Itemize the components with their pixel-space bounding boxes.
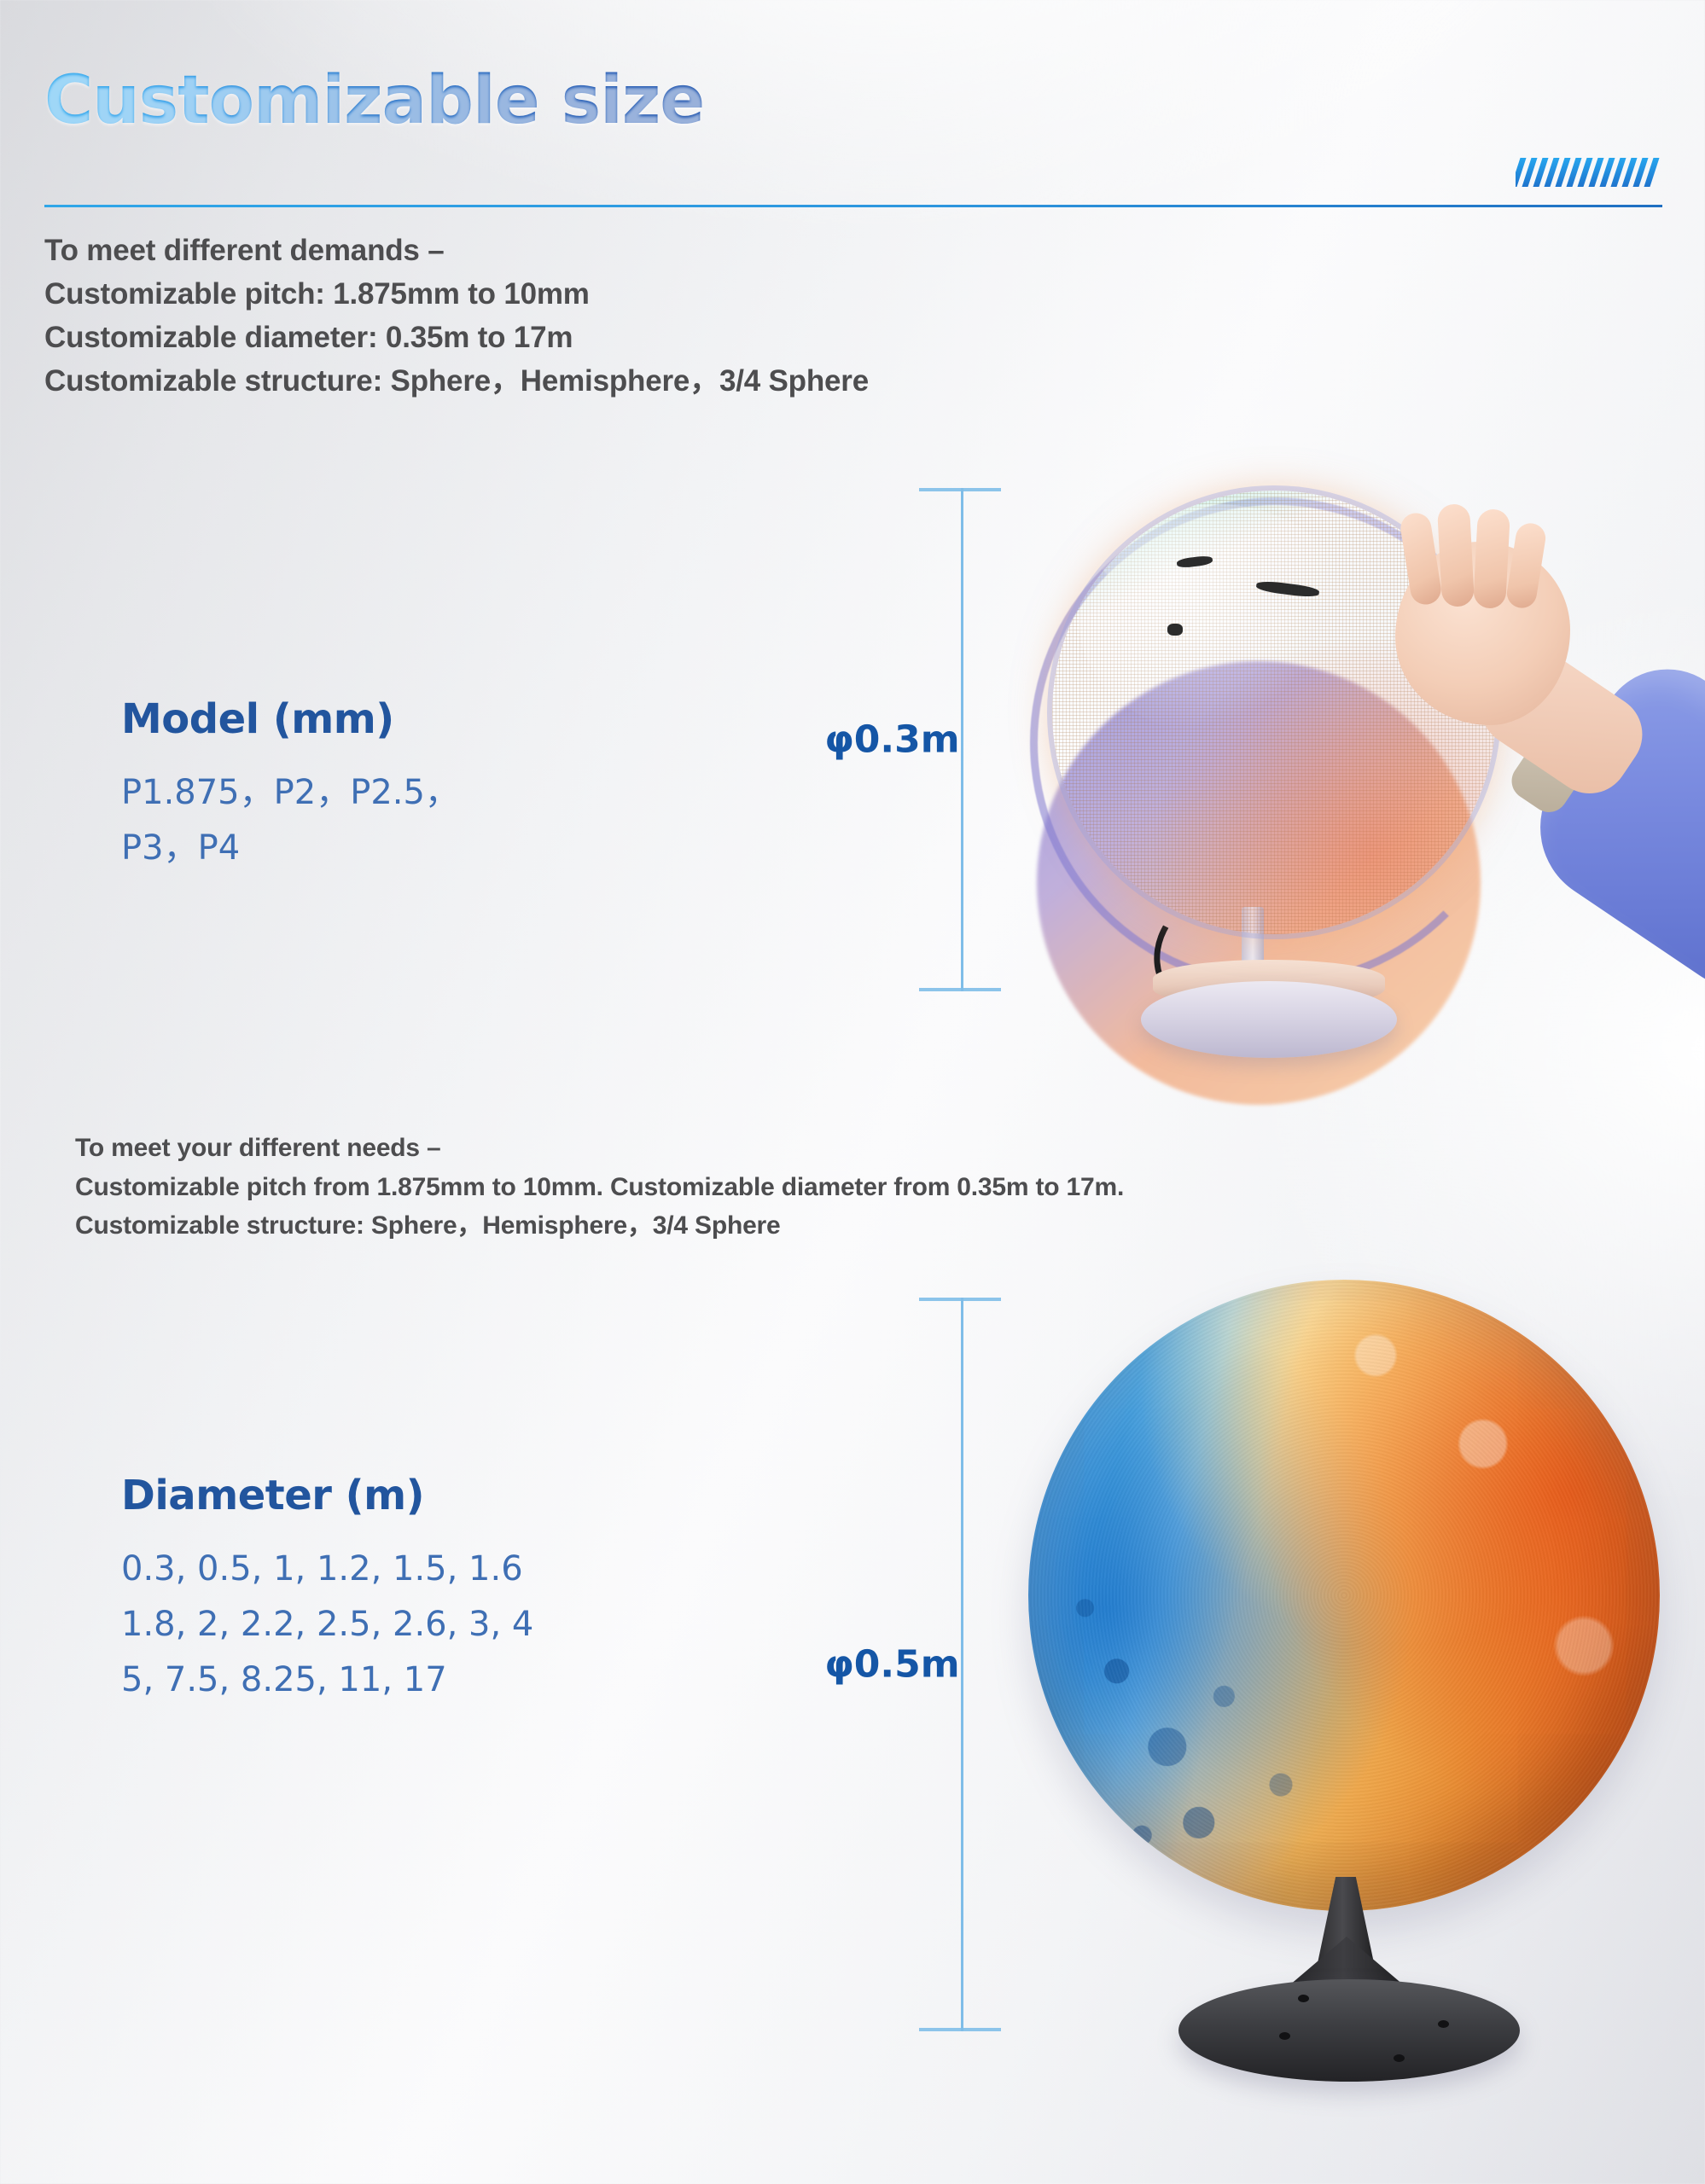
stand-base	[1141, 981, 1397, 1058]
hand-illustration	[1344, 508, 1626, 789]
diagonal-stripes-icon	[1516, 158, 1662, 187]
dimension-line	[961, 488, 963, 991]
moon-sphere	[1028, 1280, 1660, 1911]
header-divider	[44, 205, 1662, 207]
dimension-label: φ0.3m	[824, 718, 959, 762]
model-spec-block: Model (mm) P1.875，P2，P2.5， P3，P4	[121, 695, 459, 876]
page-title: Customizable size	[44, 62, 704, 139]
model-values-line: P3，P4	[121, 821, 459, 876]
sphere-marker	[1167, 624, 1183, 636]
blue-orange-moon-sphere-photo	[1011, 1280, 1694, 2141]
intro-paragraph: To meet different demands – Customizable…	[44, 229, 1154, 403]
intro-line: Customizable pitch: 1.875mm to 10mm	[44, 272, 1154, 316]
secondary-line: Customizable pitch from 1.875mm to 10mm.…	[75, 1168, 1611, 1207]
stand-base-plate	[1178, 1979, 1520, 2082]
secondary-line: To meet your different needs –	[75, 1129, 1611, 1168]
diameter-values-line: 0.3, 0.5, 1, 1.2, 1.5, 1.6	[121, 1542, 533, 1597]
secondary-line: Customizable structure: Sphere，Hemispher…	[75, 1206, 1611, 1246]
diameter-heading: Diameter (m)	[121, 1472, 533, 1519]
model-heading: Model (mm)	[121, 695, 459, 743]
intro-line: To meet different demands –	[44, 229, 1154, 272]
dimension-cap-top	[919, 1298, 1001, 1301]
dimension-line	[961, 1298, 963, 2031]
diameter-values-line: 1.8, 2, 2.2, 2.5, 2.6, 3, 4	[121, 1597, 533, 1653]
base-bolt-hole	[1394, 2054, 1405, 2062]
base-bolt-hole	[1438, 2020, 1449, 2028]
dimension-cap-bottom	[919, 2028, 1001, 2031]
diameter-spec-block: Diameter (m) 0.3, 0.5, 1, 1.2, 1.5, 1.6 …	[121, 1472, 533, 1707]
intro-line: Customizable structure: Sphere，Hemispher…	[44, 359, 1154, 403]
secondary-paragraph: To meet your different needs – Customiza…	[75, 1129, 1611, 1246]
intro-line: Customizable diameter: 0.35m to 17m	[44, 316, 1154, 359]
model-values-line: P1.875，P2，P2.5，	[121, 765, 459, 821]
base-bolt-hole	[1298, 1995, 1309, 2002]
dimension-label: φ0.5m	[824, 1643, 959, 1687]
sphere-highlight	[1079, 504, 1353, 735]
finger	[1473, 508, 1510, 609]
dimension-annotation-0.5m: φ0.5m	[960, 1298, 963, 2031]
diameter-values-line: 5, 7.5, 8.25, 11, 17	[121, 1653, 533, 1708]
led-sphere-with-hand-photo	[986, 482, 1634, 1113]
base-bolt-hole	[1279, 2032, 1290, 2040]
page-root: Customizable size To meet different dema…	[0, 0, 1705, 2184]
dimension-annotation-0.3m: φ0.3m	[960, 488, 963, 991]
sphere-texture	[1028, 1280, 1660, 1911]
finger	[1437, 503, 1475, 607]
